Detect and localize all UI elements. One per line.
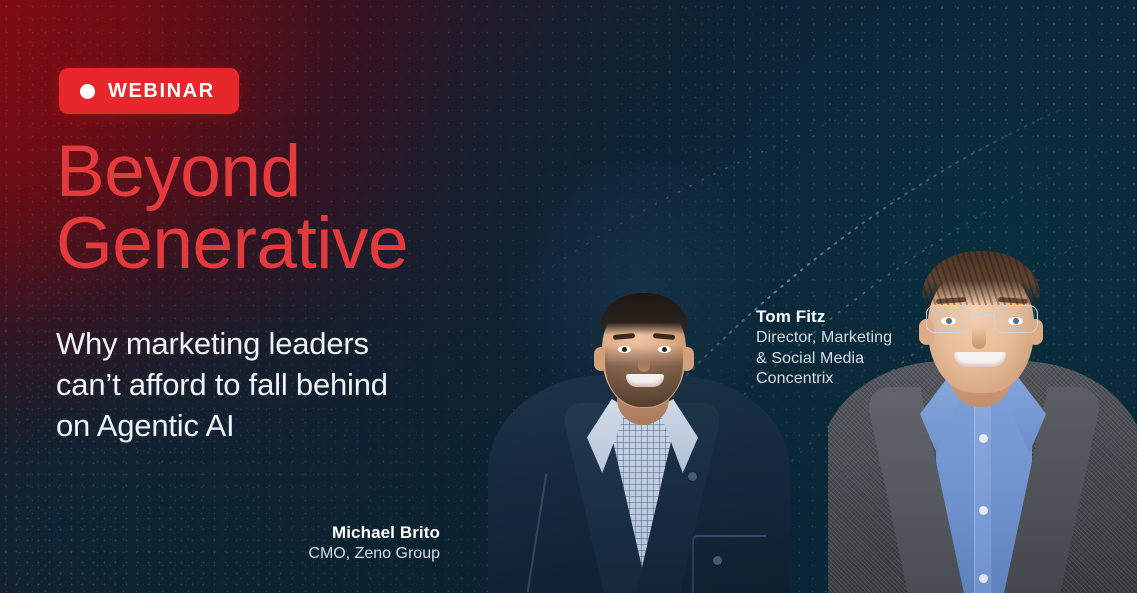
fitz-lens-left — [926, 305, 970, 333]
speaker-photo-michael-brito — [474, 163, 804, 593]
brito-eye-left — [618, 346, 631, 353]
webinar-badge-label: WEBINAR — [108, 81, 215, 101]
fitz-shirt-button-3 — [979, 574, 988, 583]
brito-nose — [638, 354, 650, 372]
fitz-shirt-button-2 — [979, 506, 988, 515]
record-dot-icon — [80, 84, 95, 99]
speaker-nameplate-michael-brito: Michael Brito CMO, Zeno Group — [228, 522, 440, 565]
brito-jacket-button-2 — [713, 556, 722, 565]
fitz-hair-texture — [922, 251, 1040, 305]
fitz-shirt-button-1 — [979, 434, 988, 443]
fitz-smile — [954, 352, 1006, 367]
brito-eye-right — [658, 346, 671, 353]
brito-jacket-pocket — [692, 535, 766, 593]
fitz-glasses-bridge — [970, 314, 994, 316]
fitz-lens-right — [994, 305, 1038, 333]
eyeglasses-icon — [924, 305, 1040, 335]
speaker-nameplate-tom-fitz: Tom Fitz Director, Marketing & Social Me… — [756, 306, 892, 390]
brito-jacket-button-1 — [688, 472, 697, 481]
speaker-name: Michael Brito — [228, 522, 440, 544]
speaker-name: Tom Fitz — [756, 306, 892, 328]
webinar-badge: WEBINAR — [59, 68, 239, 114]
webinar-promo-banner: WEBINAR Beyond Generative Why marketing … — [0, 0, 1137, 593]
brito-smile — [626, 374, 664, 387]
page-subtitle: Why marketing leaders can’t afford to fa… — [56, 324, 526, 447]
speaker-role: CMO, Zeno Group — [228, 544, 440, 565]
speaker-role: Director, Marketing & Social Media Conce… — [756, 328, 892, 390]
fitz-shirt-placket — [974, 389, 992, 593]
